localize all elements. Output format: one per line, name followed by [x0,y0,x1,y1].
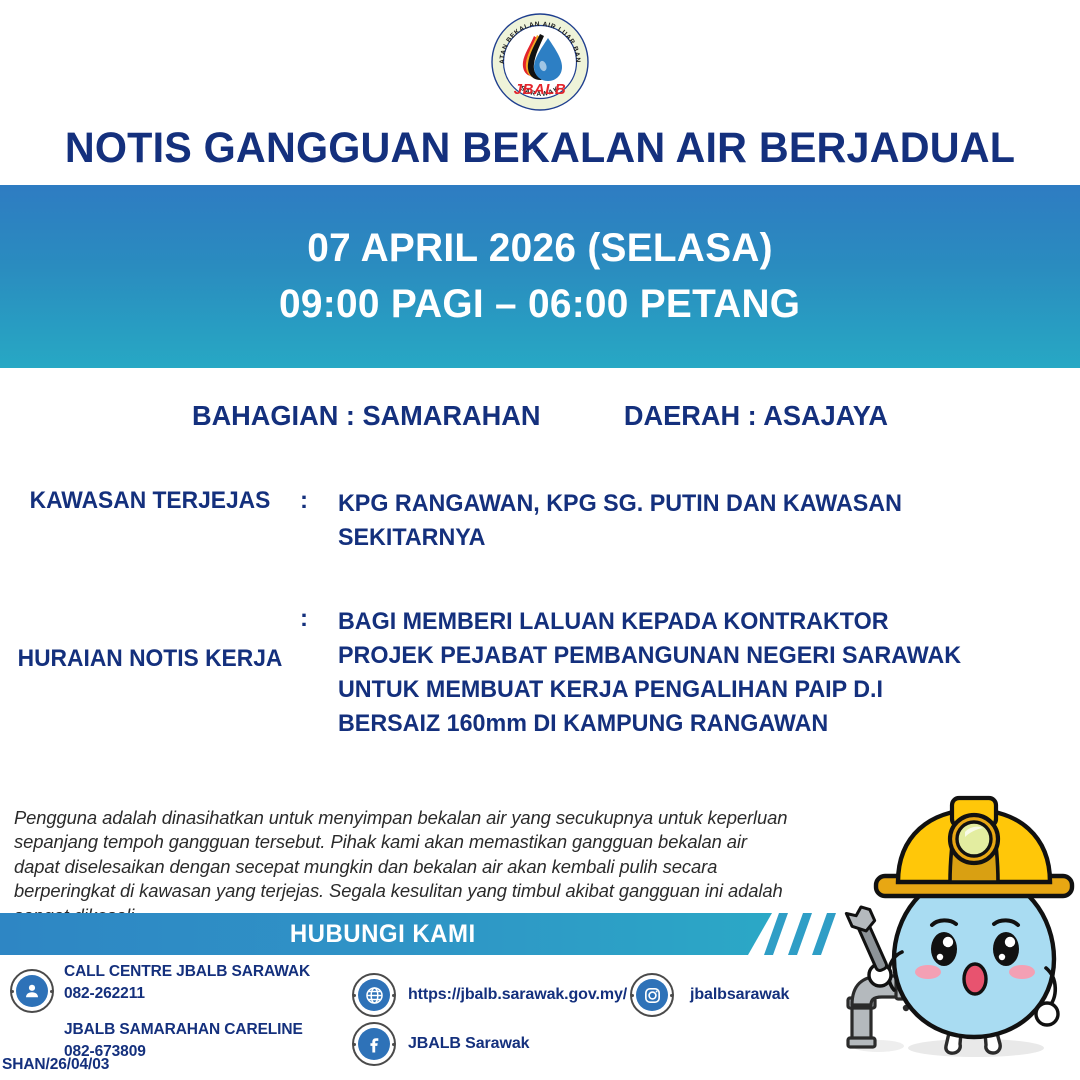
call-centre-number: 082-262211 [64,982,145,1006]
contact-bar-body: HUBUNGI KAMI [0,913,772,955]
svg-text:JBALB: JBALB [514,81,567,98]
call-centre-label: CALL CENTRE JBALB SARAWAK [64,960,310,984]
person-icon [10,969,54,1013]
detail-row-work-description: HURAIAN NOTIS KERJA : BAGI MEMBERI LALUA… [0,605,1080,741]
jbalb-logo: JABATAN BEKALAN AIR LUAR BANDAR SARAWAK … [490,12,590,112]
banner-time: 09:00 PAGI – 06:00 PETANG [279,277,800,332]
disclaimer-text: Pengguna adalah dinasihatkan untuk menyi… [14,806,794,928]
facebook-name[interactable]: JBALB Sarawak [408,1035,529,1053]
decorative-stripe [812,913,836,955]
decorative-stripe [788,913,812,955]
careline-label: JBALB SAMARAHAN CARELINE [64,1018,303,1042]
facebook-icon[interactable] [352,1022,396,1066]
reference-code: SHAN/26/04/03 [2,1056,109,1074]
contact-bar-title: HUBUNGI KAMI [290,920,476,949]
detail-value: KPG RANGAWAN, KPG SG. PUTIN DAN KAWASAN … [338,487,1058,555]
page-title: NOTIS GANGGUAN BEKALAN AIR BERJADUAL [22,124,1059,173]
detail-label: KAWASAN TERJEJAS [8,487,293,515]
schedule-banner: 07 APRIL 2026 (SELASA) 09:00 PAGI – 06:0… [0,185,1080,368]
division-label: BAHAGIAN : SAMARAHAN [192,400,541,432]
notice-poster: JABATAN BEKALAN AIR LUAR BANDAR SARAWAK … [0,0,1080,1080]
detail-colon: : [300,487,338,515]
instagram-icon[interactable] [630,973,674,1017]
detail-label: HURAIAN NOTIS KERJA [8,605,293,673]
globe-icon[interactable] [352,973,396,1017]
instagram-handle[interactable]: jbalbsarawak [690,986,789,1004]
detail-colon: : [300,605,338,633]
website-link[interactable]: https://jbalb.sarawak.gov.my/ [408,986,627,1004]
detail-row-affected-areas: KAWASAN TERJEJAS : KPG RANGAWAN, KPG SG.… [0,487,1080,555]
detail-value: BAGI MEMBERI LALUAN KEPADA KONTRAKTOR PR… [338,605,1058,741]
region-row: BAHAGIAN : SAMARAHAN DAERAH : ASAJAYA [16,400,1064,432]
district-label: DAERAH : ASAJAYA [624,400,888,432]
logo-container: JABATAN BEKALAN AIR LUAR BANDAR SARAWAK … [0,8,1080,116]
water-droplet-mascot [836,792,1080,1080]
banner-date: 07 APRIL 2026 (SELASA) [307,221,773,276]
